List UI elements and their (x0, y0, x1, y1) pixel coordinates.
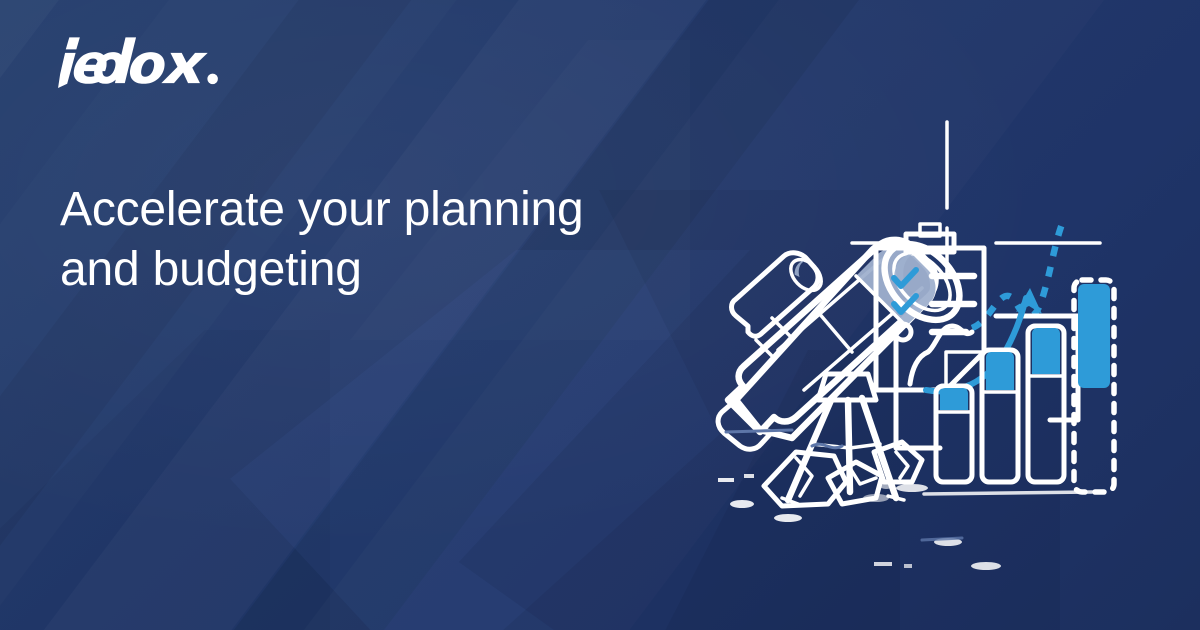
headline-line-2: and budgeting (60, 240, 680, 300)
telescope-planning-illustration: .w { fill:none; stroke:#FFFFFF; stroke-w… (700, 100, 1120, 520)
forecast-dashed-bar (1074, 280, 1114, 492)
jedox-logo[interactable] (44, 36, 227, 88)
page-title: Accelerate your planning and budgeting (60, 180, 680, 301)
headline-line-1: Accelerate your planning (60, 180, 680, 240)
banner-root: Accelerate your planning and budgeting .… (0, 0, 1200, 630)
